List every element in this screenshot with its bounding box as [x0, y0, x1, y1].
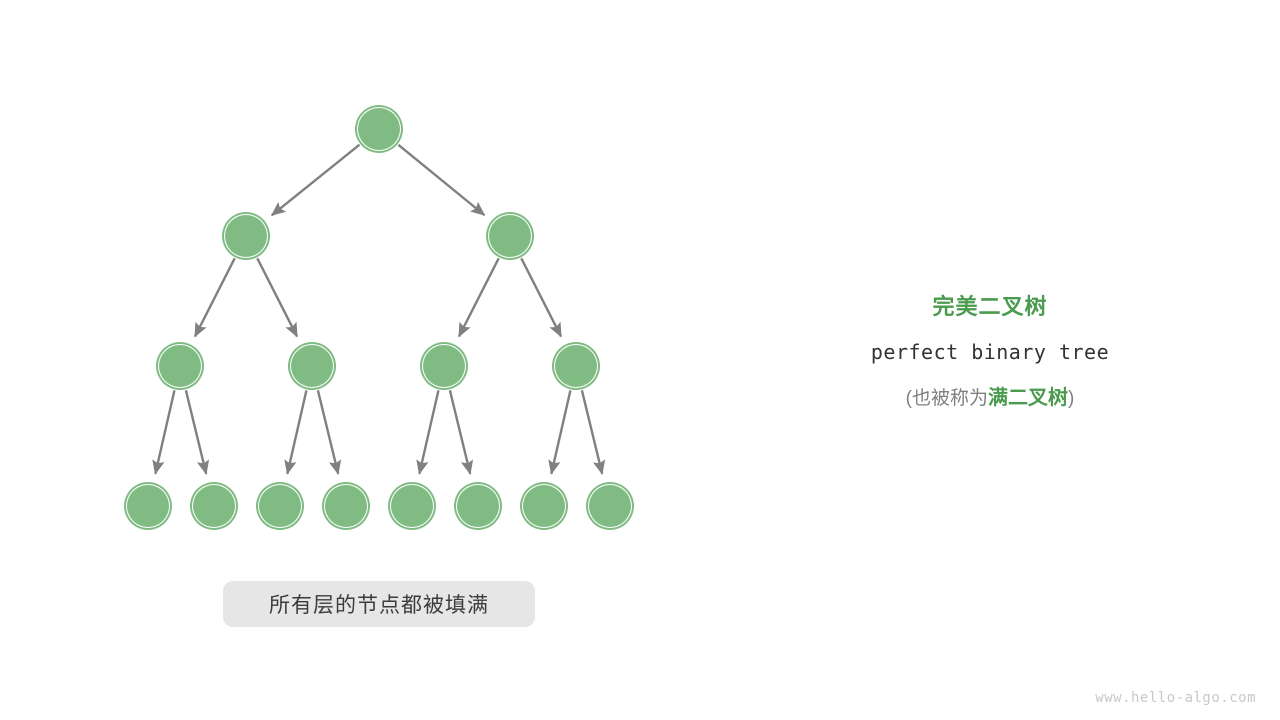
- tree-node-core: [589, 485, 631, 527]
- tree-edge: [459, 258, 499, 336]
- legend-subtitle: perfect binary tree: [790, 337, 1190, 367]
- tree-node-core: [523, 485, 565, 527]
- tree-node-core: [391, 485, 433, 527]
- tree-node[interactable]: [486, 212, 534, 260]
- tree-node[interactable]: [124, 482, 172, 530]
- tree-node[interactable]: [355, 105, 403, 153]
- tree-node-core: [489, 215, 531, 257]
- tree-node-layer: [124, 105, 634, 530]
- tree-node-core: [423, 345, 465, 387]
- tree-node-core: [159, 345, 201, 387]
- tree-edge: [287, 390, 306, 473]
- tree-node[interactable]: [156, 342, 204, 390]
- tree-node[interactable]: [256, 482, 304, 530]
- tree-node-core: [555, 345, 597, 387]
- tree-node[interactable]: [322, 482, 370, 530]
- tree-edge: [450, 390, 470, 474]
- tree-edge: [272, 145, 360, 216]
- tree-node[interactable]: [222, 212, 270, 260]
- tree-node-core: [259, 485, 301, 527]
- tree-node[interactable]: [586, 482, 634, 530]
- tree-node[interactable]: [454, 482, 502, 530]
- tree-edge: [398, 145, 484, 215]
- tree-edge: [318, 390, 338, 474]
- tree-node-core: [358, 108, 400, 150]
- legend-alt-name: (也被称为满二叉树): [790, 383, 1190, 414]
- tree-node[interactable]: [388, 482, 436, 530]
- tree-node[interactable]: [190, 482, 238, 530]
- caption-text: 所有层的节点都被填满: [269, 589, 489, 619]
- tree-node[interactable]: [288, 342, 336, 390]
- tree-node-core: [291, 345, 333, 387]
- tree-node-core: [225, 215, 267, 257]
- tree-node-core: [457, 485, 499, 527]
- legend-title: 完美二叉树: [790, 292, 1190, 322]
- tree-node-core: [325, 485, 367, 527]
- tree-edge: [155, 390, 174, 473]
- watermark: www.hello-algo.com: [1095, 690, 1256, 706]
- caption-pill: 所有层的节点都被填满: [223, 581, 535, 627]
- tree-edge: [186, 390, 206, 474]
- tree-edge-layer: [155, 145, 602, 474]
- tree-edge: [419, 390, 438, 473]
- legend-alt-prefix: (也被称为: [906, 388, 988, 409]
- tree-node[interactable]: [420, 342, 468, 390]
- tree-edge: [195, 258, 235, 336]
- tree-node[interactable]: [552, 342, 600, 390]
- legend-block: 完美二叉树 perfect binary tree (也被称为满二叉树): [790, 292, 1190, 414]
- tree-edge: [582, 390, 602, 474]
- tree-node-core: [127, 485, 169, 527]
- tree-node[interactable]: [520, 482, 568, 530]
- tree-edge: [521, 258, 561, 336]
- legend-alt-highlight: 满二叉树: [988, 387, 1068, 409]
- tree-edge: [551, 390, 570, 473]
- legend-alt-suffix: ): [1068, 388, 1074, 409]
- tree-edge: [257, 258, 297, 336]
- tree-node-core: [193, 485, 235, 527]
